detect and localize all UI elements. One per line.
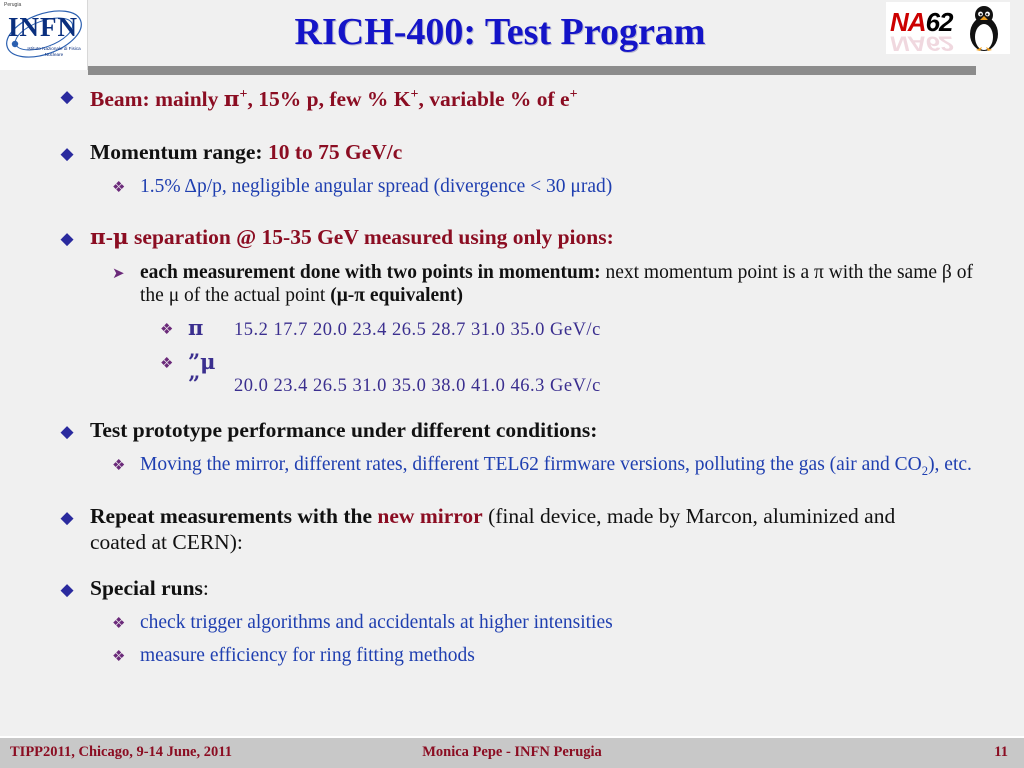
slide-footer: TIPP2011, Chicago, 9-14 June, 2011 Monic… (0, 736, 1024, 768)
page-title: RICH-400: Test Program (120, 10, 880, 54)
mu-row: ”μ ”20.0 23.4 26.5 31.0 35.0 38.0 41.0 4… (188, 351, 601, 397)
bullet-pi-row: ❖ π15.2 17.7 20.0 23.4 26.5 28.7 31.0 35… (160, 317, 1024, 341)
infn-acronym: INFN (8, 12, 78, 43)
header-divider (88, 66, 976, 75)
mu-row-values: 20.0 23.4 26.5 31.0 35.0 38.0 41.0 46.3 … (234, 376, 601, 396)
separation-label: separation @ 15-35 GeV measured using on… (129, 225, 614, 249)
separation-detail-tail: (μ-π equivalent) (330, 285, 463, 306)
momentum-text: Momentum range: 10 to 75 GeV/c (90, 139, 402, 165)
separation-detail-bold: each measurement done with two points in… (140, 262, 601, 283)
bullet-beam: ◆ Beam: mainly π+, 15% p, few % K+, vari… (56, 82, 1024, 113)
diamond-bullet-icon: ◆ (56, 230, 78, 247)
diamond-bullet-icon: ◆ (56, 509, 78, 526)
bullet-separation-detail: ➤ each measurement done with two points … (112, 261, 1024, 307)
repeat-highlight: new mirror (377, 504, 482, 528)
prototype-label: Test prototype performance under differe… (90, 417, 597, 443)
bullet-special: ◆ Special runs: (56, 575, 1024, 601)
bullet-special-item-2: ❖ measure efficiency for ring fitting me… (112, 644, 1024, 667)
prototype-detail-text: Moving the mirror, different rates, diff… (140, 453, 972, 483)
pi-row-values: 15.2 17.7 20.0 23.4 26.5 28.7 31.0 35.0 … (234, 320, 601, 340)
bullet-mu-row: ❖ ”μ ”20.0 23.4 26.5 31.0 35.0 38.0 41.0… (160, 351, 1024, 397)
diamond-bullet-icon: ◆ (56, 423, 78, 440)
momentum-label: Momentum range: (90, 140, 263, 164)
beam-text: Beam: mainly π+, 15% p, few % K+, variab… (90, 82, 578, 113)
arrow-bullet-icon: ➤ (112, 265, 130, 283)
mu-row-symbol: ”μ ” (188, 351, 234, 395)
beam-k-sup: + (411, 87, 419, 102)
infn-logo: Perugia INFN Istituto Nazionale di Fisic… (0, 0, 88, 70)
flower-bullet-icon: ❖ (112, 615, 130, 633)
beam-rest-c: , variable % of e (419, 87, 570, 111)
separation-mu: μ (113, 225, 129, 250)
beam-rest-b: , 15% p, few % K (248, 87, 411, 111)
na62-logo: NA62 NA62 (886, 2, 1010, 54)
penguin-icon (964, 4, 1004, 52)
special-text: Special runs: (90, 575, 209, 601)
separation-text: π-μ separation @ 15-35 GeV measured usin… (90, 224, 614, 251)
flower-bullet-icon: ❖ (112, 179, 130, 197)
diamond-bullet-icon: ◆ (56, 581, 78, 598)
separation-dash: - (106, 225, 113, 249)
footer-page-number: 11 (994, 744, 1008, 761)
bullet-separation: ◆ π-μ separation @ 15-35 GeV measured us… (56, 224, 1024, 251)
pi-row-symbol: π (188, 317, 234, 339)
prototype-detail-a: Moving the mirror, different rates, diff… (140, 454, 922, 475)
beam-label: Beam: (90, 87, 150, 111)
momentum-value: 10 to 75 GeV/c (268, 140, 402, 164)
bullet-prototype-detail: ❖ Moving the mirror, different rates, di… (112, 453, 1024, 483)
slide-body: ◆ Beam: mainly π+, 15% p, few % K+, vari… (0, 82, 1024, 738)
infn-subtitle: Istituto Nazionale di Fisica Nucleare (26, 46, 82, 58)
prototype-detail-b: ), etc. (928, 454, 972, 475)
bullet-momentum: ◆ Momentum range: 10 to 75 GeV/c (56, 139, 1024, 165)
diamond-bullet-icon: ◆ (56, 145, 78, 162)
special-item-1-text: check trigger algorithms and accidentals… (140, 611, 613, 634)
repeat-text: Repeat measurements with the new mirror … (90, 503, 920, 555)
momentum-detail-text: 1.5% Δp/p, negligible angular spread (di… (140, 175, 612, 198)
separation-detail-text: each measurement done with two points in… (140, 261, 980, 307)
diamond-bullet-icon: ◆ (56, 88, 78, 105)
slide-header: Perugia INFN Istituto Nazionale di Fisic… (0, 0, 1024, 80)
special-colon: : (203, 576, 209, 600)
bullet-momentum-detail: ❖ 1.5% Δp/p, negligible angular spread (… (112, 175, 1024, 198)
flower-bullet-icon: ❖ (112, 648, 130, 666)
bullet-special-item-1: ❖ check trigger algorithms and accidenta… (112, 611, 1024, 634)
separation-pi: π (90, 225, 106, 250)
repeat-label-a: Repeat measurements with the (90, 504, 377, 528)
flower-bullet-icon: ❖ (160, 355, 178, 373)
bullet-repeat: ◆ Repeat measurements with the new mirro… (56, 503, 1024, 555)
flower-bullet-icon: ❖ (112, 457, 130, 475)
pi-row: π15.2 17.7 20.0 23.4 26.5 28.7 31.0 35.0… (188, 317, 601, 341)
beam-rest-a: mainly (150, 87, 224, 111)
bullet-prototype: ◆ Test prototype performance under diffe… (56, 417, 1024, 443)
footer-author: Monica Pepe - INFN Perugia (0, 744, 1024, 761)
beam-pi-sup: + (240, 87, 248, 102)
na62-wordmark-reflection: NA62 (890, 31, 952, 56)
special-item-2-text: measure efficiency for ring fitting meth… (140, 644, 475, 667)
beam-pi: π (224, 87, 240, 112)
beam-e-sup: + (570, 87, 578, 102)
special-label: Special runs (90, 576, 203, 600)
flower-bullet-icon: ❖ (160, 321, 178, 339)
